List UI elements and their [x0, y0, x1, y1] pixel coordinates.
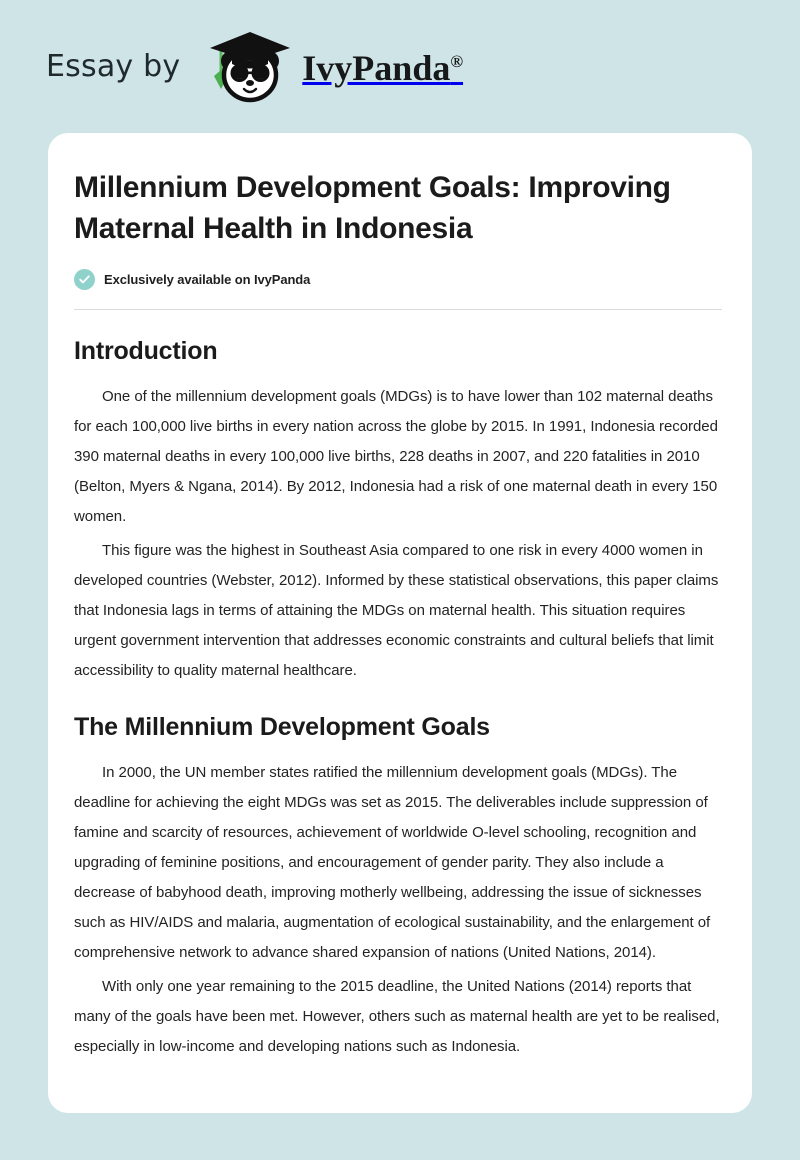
section-heading-introduction: Introduction — [74, 337, 722, 366]
panda-graduate-logo-icon — [194, 28, 306, 106]
brand-wordmark: IvyPanda® — [302, 50, 463, 86]
essay-by-label: Essay by — [46, 52, 180, 82]
paragraph: In 2000, the UN member states ratified t… — [74, 758, 722, 968]
ivypanda-logo-link[interactable]: IvyPanda® — [194, 28, 463, 106]
exclusive-badge: Exclusively available on IvyPanda — [74, 269, 722, 290]
paragraph: One of the millennium development goals … — [74, 382, 722, 532]
page-title: Millennium Development Goals: Improving … — [74, 167, 714, 249]
brand-name-text: IvyPanda — [302, 48, 450, 88]
document-card: Millennium Development Goals: Improving … — [48, 133, 752, 1113]
status-badge-label: Exclusively available on IvyPanda — [104, 272, 310, 287]
registered-mark: ® — [450, 52, 463, 71]
paragraph: With only one year remaining to the 2015… — [74, 972, 722, 1062]
check-circle-icon — [74, 269, 95, 290]
section-heading-millennium-development-goals: The Millennium Development Goals — [74, 713, 722, 742]
header-divider — [74, 309, 722, 310]
paragraph: This figure was the highest in Southeast… — [74, 536, 722, 686]
brand-header: Essay by — [0, 0, 800, 133]
